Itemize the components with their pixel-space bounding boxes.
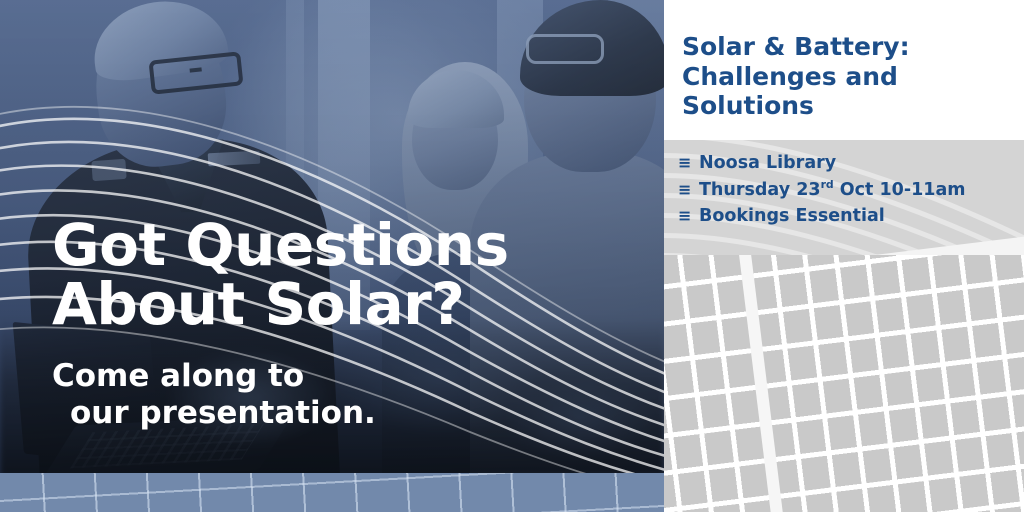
headline-block: Got Questions About Solar?	[52, 216, 509, 334]
event-details-list: ≡ Noosa Library ≡ Thursday 23rd Oct 10-1…	[678, 150, 966, 230]
list-item: ≡ Bookings Essential	[678, 203, 966, 230]
subheadline-line-1: Come along to	[52, 358, 376, 395]
photo-footer-band	[0, 473, 664, 512]
hamburger-bars-icon: ≡	[678, 155, 693, 171]
date-prefix: Thursday 23	[699, 180, 821, 200]
ordinal-suffix: rd	[821, 178, 834, 191]
solar-panel-grid-grey	[664, 255, 1024, 512]
subheadline-block: Come along to our presentation.	[52, 358, 376, 431]
info-title-line-3: Solutions	[682, 91, 814, 120]
headline-line-1: Got Questions	[52, 216, 509, 275]
info-title-line-2: Challenges and	[682, 62, 898, 91]
subheadline-line-2: our presentation.	[52, 395, 376, 432]
headline-line-2: About Solar?	[52, 275, 509, 334]
list-item-label: Noosa Library	[699, 150, 836, 177]
list-item-label: Bookings Essential	[699, 203, 885, 230]
list-item: ≡ Noosa Library	[678, 150, 966, 177]
date-suffix: Oct 10-11am	[834, 180, 966, 200]
hamburger-bars-icon: ≡	[678, 182, 693, 198]
solar-panel-grid-blue	[0, 473, 664, 512]
list-item-label: Thursday 23rd Oct 10-11am	[699, 177, 966, 204]
photo-panel: Got Questions About Solar? Come along to…	[0, 0, 664, 512]
info-title-line-1: Solar & Battery:	[682, 32, 910, 61]
page-title: Solar & Battery: Challenges and Solution…	[682, 32, 1012, 121]
solar-panel-illustration	[664, 255, 1024, 512]
info-panel: Solar & Battery: Challenges and Solution…	[664, 0, 1024, 512]
promo-banner: Got Questions About Solar? Come along to…	[0, 0, 1024, 512]
list-item: ≡ Thursday 23rd Oct 10-11am	[678, 177, 966, 204]
hamburger-bars-icon: ≡	[678, 208, 693, 224]
